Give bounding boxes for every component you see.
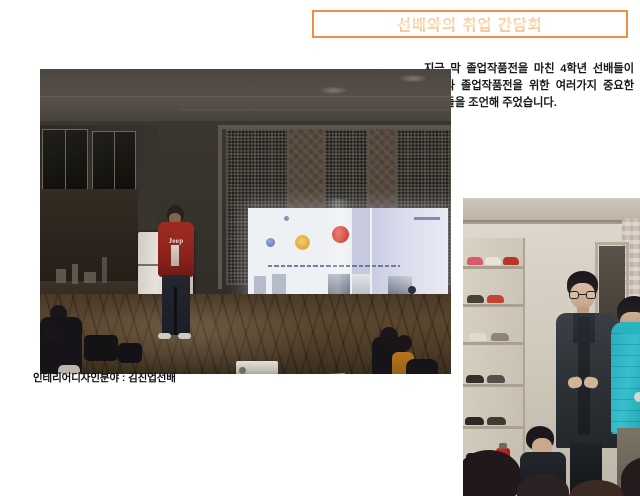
slide-dot-red xyxy=(332,226,349,243)
rack-shelf xyxy=(463,304,523,307)
left-photo-scene: Jeep xyxy=(40,69,451,374)
slide-logo xyxy=(414,217,440,220)
counter-item xyxy=(72,264,78,284)
counter-item xyxy=(56,269,66,283)
door-frame xyxy=(218,125,222,289)
jacket-collar xyxy=(619,322,640,334)
glasses-lens-right xyxy=(586,291,596,299)
rack-shelf xyxy=(463,384,523,387)
projector xyxy=(236,361,278,374)
sweatshirt-logo: Jeep xyxy=(166,237,186,244)
rack-shelf xyxy=(463,266,523,269)
ceiling-light xyxy=(321,87,347,94)
page-title-banner: 선배와의 취업 간담회 xyxy=(312,10,628,38)
page-title: 선배와의 취업 간담회 xyxy=(397,14,543,35)
kitchen-cabinet xyxy=(40,189,138,285)
shoe xyxy=(485,257,501,265)
shoe xyxy=(467,257,483,265)
foreground-audience-head xyxy=(463,450,521,496)
shoe xyxy=(503,257,519,265)
photo-left-presentation: Jeep xyxy=(40,69,451,374)
ceiling-seam xyxy=(180,109,451,110)
shoe xyxy=(466,375,484,383)
ceiling-seam xyxy=(40,96,451,97)
intro-paragraph: 지금 막 졸업작품전을 마친 4학년 선배들이 찾아와 졸업작품전을 위한 여러… xyxy=(424,61,634,112)
speaker-person: Jeep xyxy=(156,205,196,345)
backpack xyxy=(84,335,118,361)
ceiling-light xyxy=(400,75,426,82)
ceiling xyxy=(40,69,451,127)
photo-left-caption: 인테리어디자인분야 : 김진업선배 xyxy=(33,370,176,385)
shoe xyxy=(487,295,504,303)
glasses-lens-left xyxy=(569,291,579,299)
speaker-shoe xyxy=(178,333,191,339)
audience-person xyxy=(406,359,438,374)
door-frame-top xyxy=(218,125,451,129)
slide-dot-yellow xyxy=(295,235,310,250)
rack-shelf xyxy=(463,342,523,345)
shoe xyxy=(469,333,487,341)
slide-dot-blue xyxy=(266,238,275,247)
rack-shelf xyxy=(463,426,523,429)
hand-right xyxy=(583,376,598,389)
glasses-icon xyxy=(569,291,596,299)
slide-dot-dark xyxy=(408,286,416,294)
counter-item xyxy=(84,272,96,283)
slide-text-line xyxy=(268,265,400,267)
speaker-legs xyxy=(162,275,190,335)
slide-dot-small xyxy=(284,216,289,221)
backpack xyxy=(118,343,142,363)
shoe xyxy=(465,417,484,425)
jacket-quilting xyxy=(611,322,640,434)
shoe xyxy=(487,375,505,383)
shoe xyxy=(491,333,509,341)
shoe xyxy=(487,417,506,425)
speaker-held-paper xyxy=(171,245,179,266)
audience-head xyxy=(396,335,412,351)
shoe xyxy=(467,295,484,303)
right-photo-scene xyxy=(463,198,640,496)
faucet xyxy=(102,257,107,283)
jacket-badge xyxy=(634,392,640,402)
audience-head xyxy=(44,327,58,341)
photo-right-students xyxy=(463,198,640,496)
speaker-shoe xyxy=(158,333,171,339)
